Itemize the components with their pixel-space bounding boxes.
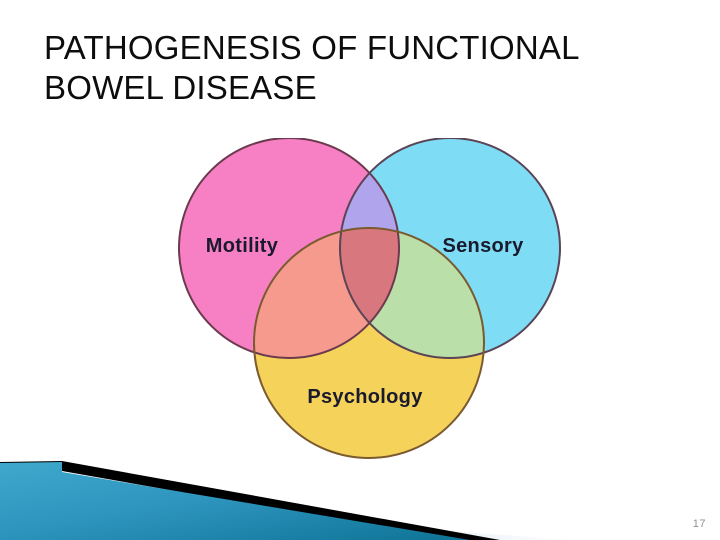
venn-diagram: Motility Sensory Psychology <box>150 138 570 463</box>
venn-label-psychology: Psychology <box>307 386 423 408</box>
black-stripe <box>0 461 62 472</box>
page-title: PATHOGENESIS OF FUNCTIONAL BOWEL DISEASE <box>44 28 664 108</box>
venn-label-motility: Motility <box>206 235 279 257</box>
page-number: 17 <box>693 518 706 530</box>
black-stripe-main <box>62 461 500 540</box>
teal-wedge <box>0 462 470 540</box>
pale-stripe <box>0 504 430 540</box>
slide-canvas: PATHOGENESIS OF FUNCTIONAL BOWEL DISEASE <box>0 0 720 540</box>
pale-stripe-tail <box>62 504 575 540</box>
venn-label-sensory: Sensory <box>442 235 524 257</box>
